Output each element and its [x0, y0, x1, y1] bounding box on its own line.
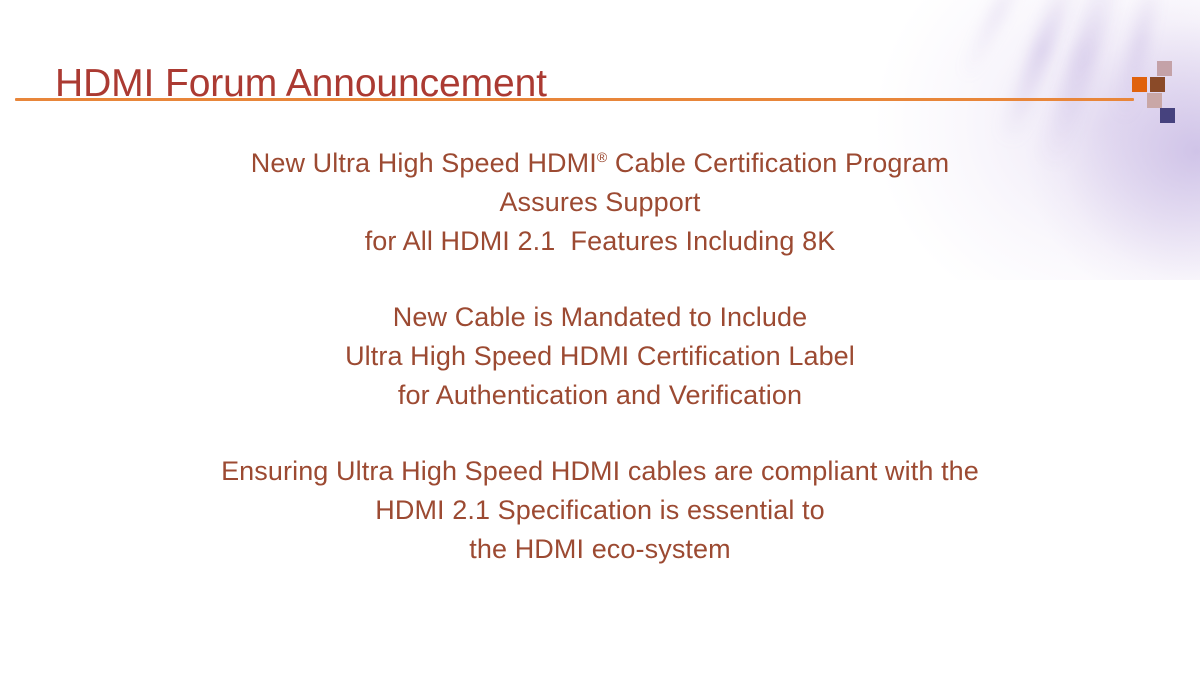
announcement-paragraph-3: Ensuring Ultra High Speed HDMI cables ar…	[0, 452, 1200, 569]
paragraph-3-line-1: Ensuring Ultra High Speed HDMI cables ar…	[0, 452, 1200, 491]
paragraph-1-line-1-pre: New Ultra High Speed HDMI	[251, 148, 597, 178]
decor-square-navy	[1160, 108, 1175, 123]
gradient-streak-decoration	[997, 0, 1080, 145]
paragraph-1-line-1-post: Cable Certification Program	[607, 148, 949, 178]
paragraph-1-line-2: Assures Support	[0, 183, 1200, 222]
decor-square-mauve-top	[1157, 61, 1172, 76]
paragraph-2-line-3: for Authentication and Verification	[0, 376, 1200, 415]
title-divider-rule	[15, 98, 1134, 101]
registered-trademark-symbol: ®	[597, 149, 607, 165]
presentation-slide: HDMI Forum Announcement New Ultra High S…	[0, 0, 1200, 696]
paragraph-3-line-2: HDMI 2.1 Specification is essential to	[0, 491, 1200, 530]
decor-square-mauve-mid	[1147, 93, 1162, 108]
gradient-streak-decoration	[957, 0, 1032, 83]
announcement-paragraph-1: New Ultra High Speed HDMI® Cable Certifi…	[0, 144, 1200, 261]
paragraph-1-line-3: for All HDMI 2.1 Features Including 8K	[0, 222, 1200, 261]
slide-body: New Ultra High Speed HDMI® Cable Certifi…	[0, 144, 1200, 569]
paragraph-1-line-1: New Ultra High Speed HDMI® Cable Certifi…	[0, 144, 1200, 183]
decor-square-brown	[1150, 77, 1165, 92]
paragraph-2-line-1: New Cable is Mandated to Include	[0, 298, 1200, 337]
paragraph-2-line-2: Ultra High Speed HDMI Certification Labe…	[0, 337, 1200, 376]
decor-square-orange	[1132, 77, 1147, 92]
announcement-paragraph-2: New Cable is Mandated to Include Ultra H…	[0, 298, 1200, 415]
paragraph-3-line-3: the HDMI eco-system	[0, 530, 1200, 569]
